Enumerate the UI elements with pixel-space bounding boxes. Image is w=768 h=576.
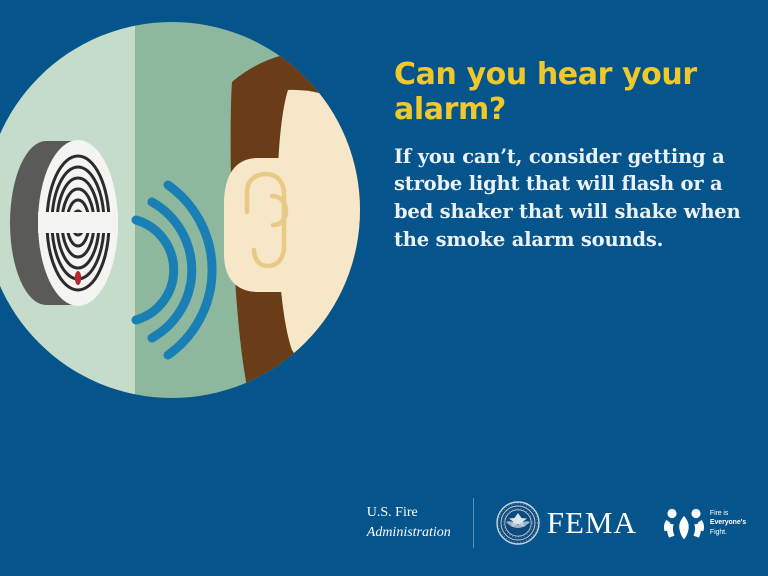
fema-lockup: FEMA [496,501,637,545]
fief-tagline-line-1: Fire is [710,509,746,518]
footer-divider [473,498,474,548]
fief-tagline: Fire is Everyone's Fight. [710,509,746,537]
illustration-svg [0,0,380,420]
illustration [0,0,380,420]
fief-tagline-line-2: Everyone's [710,518,746,527]
usfa-lockup: U.S. Fire Administration [367,503,473,544]
usfa-line-2: Administration [367,523,451,543]
page-title: Can you hear your alarm? [394,58,746,128]
dhs-seal-icon [496,501,540,545]
text-block: Can you hear your alarm? If you can’t, c… [394,58,746,253]
smoke-alarm-band [38,212,118,233]
fema-wordmark: FEMA [547,505,637,541]
head-illustration [224,52,380,412]
neck-shape [292,330,380,412]
face-shape [277,90,380,375]
footer-logo-bar: U.S. Fire Administration FEMA [0,492,768,554]
smoke-alarm-led-icon [75,271,81,285]
smoke-alarm [10,140,118,306]
fief-tagline-line-3: Fight. [710,528,746,537]
body-copy: If you can’t, consider getting a strobe … [394,143,746,254]
fief-people-icon [663,505,705,541]
circle-scene [0,10,380,412]
fief-lockup: Fire is Everyone's Fight. [663,505,746,541]
usfa-line-1: U.S. Fire [367,503,451,523]
